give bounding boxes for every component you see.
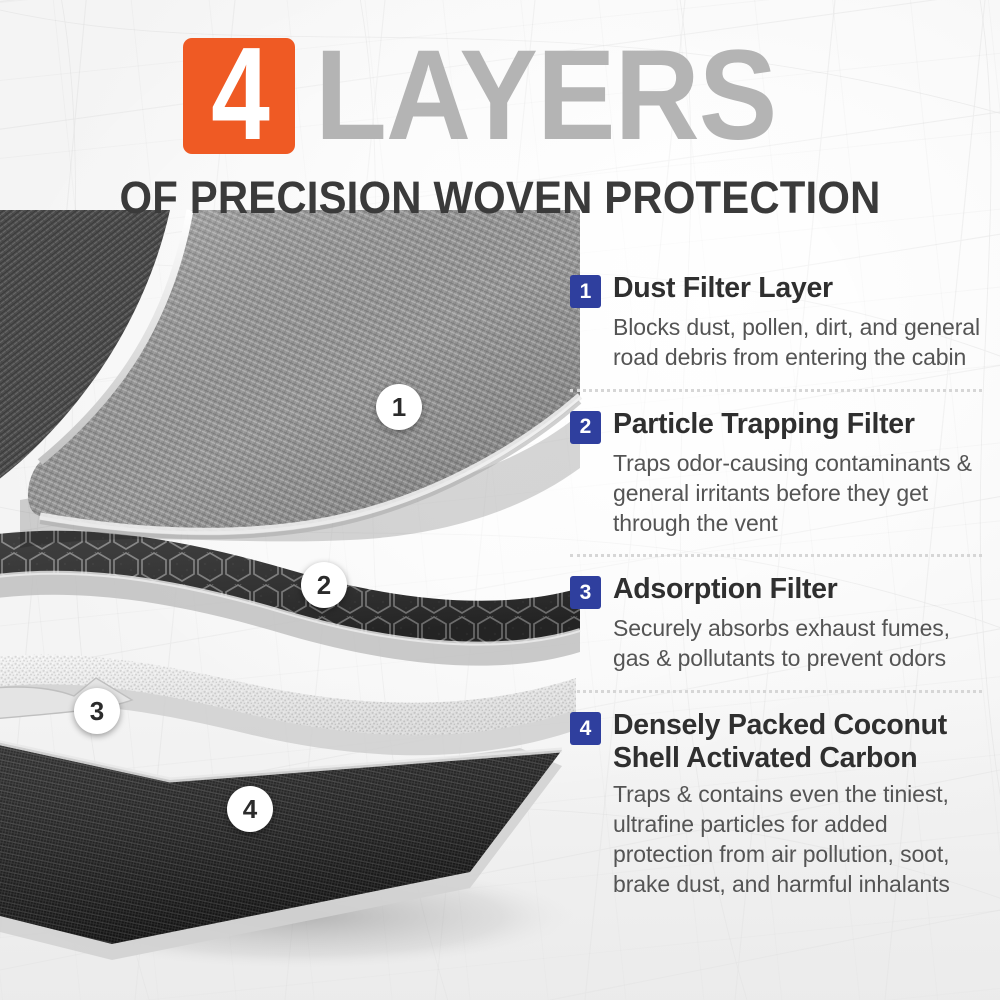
- product-callout-2: 2: [301, 562, 347, 608]
- header: 4 LAYERS OF PRECISION WOVEN PROTECTION: [0, 34, 1000, 224]
- feature-title-3: Adsorption Filter: [613, 573, 837, 606]
- feature-header: 3 Adsorption Filter: [570, 573, 982, 609]
- feature-divider-2: [570, 554, 982, 557]
- layer-count-badge: 4: [183, 38, 295, 154]
- feature-item-3: 3 Adsorption Filter Securely absorbs exh…: [570, 573, 982, 674]
- product-layer-stack: [0, 200, 580, 960]
- feature-divider-3: [570, 690, 982, 693]
- product-callout-1: 1: [376, 384, 422, 430]
- feature-header: 4 Densely Packed Coconut Shell Activated…: [570, 709, 982, 775]
- feature-description-2: Traps odor-causing contaminants & genera…: [613, 449, 982, 539]
- product-callout-3: 3: [74, 688, 120, 734]
- feature-header: 1 Dust Filter Layer: [570, 272, 982, 308]
- feature-divider-1: [570, 389, 982, 392]
- feature-title-1: Dust Filter Layer: [613, 272, 833, 305]
- feature-number-badge-3: 3: [570, 576, 601, 609]
- feature-header: 2 Particle Trapping Filter: [570, 408, 982, 444]
- feature-list: 1 Dust Filter Layer Blocks dust, pollen,…: [570, 272, 982, 900]
- feature-number-badge-4: 4: [570, 712, 601, 745]
- feature-title-2: Particle Trapping Filter: [613, 408, 915, 441]
- feature-title-4: Densely Packed Coconut Shell Activated C…: [613, 709, 982, 775]
- layer-1-dust-filter: [0, 210, 580, 548]
- layer-count-value: 4: [211, 43, 268, 146]
- infographic-root: 4 LAYERS OF PRECISION WOVEN PROTECTION: [0, 0, 1000, 1000]
- feature-description-3: Securely absorbs exhaust fumes, gas & po…: [613, 614, 982, 674]
- headline-word: LAYERS: [315, 32, 776, 160]
- feature-description-1: Blocks dust, pollen, dirt, and general r…: [613, 313, 982, 373]
- feature-item-2: 2 Particle Trapping Filter Traps odor-ca…: [570, 408, 982, 539]
- feature-item-4: 4 Densely Packed Coconut Shell Activated…: [570, 709, 982, 900]
- feature-number-badge-2: 2: [570, 411, 601, 444]
- headline: 4 LAYERS: [0, 34, 1000, 158]
- layer-2-honeycomb: [0, 531, 580, 666]
- subheadline: OF PRECISION WOVEN PROTECTION: [35, 172, 965, 224]
- feature-number-badge-1: 1: [570, 275, 601, 308]
- feature-description-4: Traps & contains even the tiniest, ultra…: [613, 780, 982, 900]
- product-callout-4: 4: [227, 786, 273, 832]
- feature-item-1: 1 Dust Filter Layer Blocks dust, pollen,…: [570, 272, 982, 373]
